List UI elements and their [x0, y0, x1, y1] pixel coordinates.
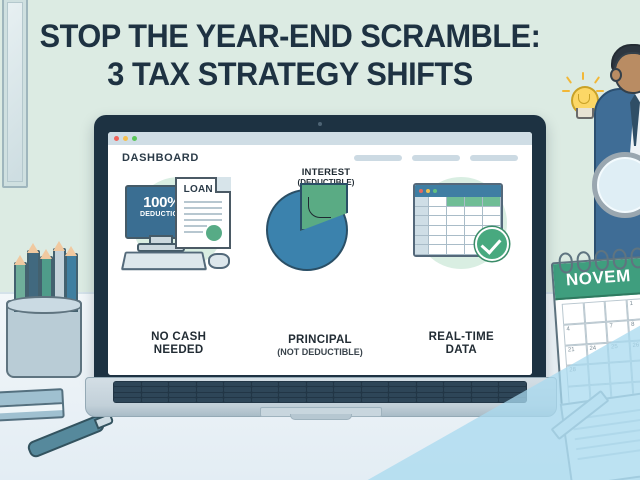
keyboard-key[interactable]	[307, 387, 334, 391]
keyboard-key[interactable]	[417, 387, 444, 391]
panel-row: 100% DEDUCTION LOAN	[108, 171, 532, 375]
page-title: STOP THE YEAR-END SCRAMBLE: 3 TAX STRATE…	[0, 20, 580, 90]
spreadsheet-cell	[429, 207, 447, 217]
spreadsheet-cell	[447, 216, 465, 226]
laptop-notch	[290, 414, 352, 420]
nav-pill-group	[354, 155, 518, 161]
spreadsheet-cell	[447, 207, 465, 217]
panel-label-line2: NEEDED	[151, 344, 206, 357]
traffic-light-red[interactable]	[114, 136, 119, 141]
keyboard-key[interactable]	[169, 393, 196, 397]
keyboard-key[interactable]	[252, 393, 279, 397]
spreadsheet-cell	[447, 226, 465, 236]
spreadsheet-cell	[447, 236, 465, 246]
keyboard-key[interactable]	[142, 398, 169, 402]
keyboard-key[interactable]	[389, 382, 416, 386]
callout-line1: INTEREST	[286, 167, 366, 178]
nav-pill-2[interactable]	[412, 155, 460, 161]
keyboard-key[interactable]	[114, 393, 141, 397]
laptop-lid: DASHBOARD	[94, 115, 546, 387]
document-fold	[215, 177, 231, 193]
spreadsheet-cell	[415, 226, 429, 236]
keyboard-key[interactable]	[472, 393, 499, 397]
webcam-icon	[318, 122, 322, 126]
keyboard-key[interactable]	[197, 387, 224, 391]
spreadsheet-titlebar	[415, 185, 501, 197]
spreadsheet-cell	[415, 207, 429, 217]
keyboard-key[interactable]	[279, 387, 306, 391]
spreadsheet-cell	[447, 245, 465, 255]
spreadsheet-cell	[429, 226, 447, 236]
traffic-light-amber[interactable]	[123, 136, 128, 141]
keyboard-icon	[121, 252, 207, 271]
keyboard-key[interactable]	[307, 382, 334, 386]
keyboard-key[interactable]	[114, 398, 141, 402]
check-circle-icon	[475, 227, 509, 261]
headline-line-1: STOP THE YEAR-END SCRAMBLE:	[12, 20, 569, 52]
keyboard-key[interactable]	[334, 382, 361, 386]
keyboard-key[interactable]	[197, 382, 224, 386]
approval-stamp-icon	[206, 225, 222, 241]
loan-document-title: LOAN	[184, 184, 213, 195]
keyboard-key[interactable]	[417, 393, 444, 397]
pencil-cup	[6, 300, 82, 378]
spreadsheet-cell	[465, 207, 483, 217]
spreadsheet-cell	[415, 197, 429, 207]
calendar-day-cell	[562, 302, 585, 324]
traffic-light-green[interactable]	[132, 136, 137, 141]
keyboard-key[interactable]	[389, 398, 416, 402]
keyboard-key[interactable]	[444, 387, 471, 391]
keyboard-key[interactable]	[114, 382, 141, 386]
spreadsheet-cell	[415, 216, 429, 226]
keyboard-key[interactable]	[307, 398, 334, 402]
panel-label-line1: PRINCIPAL	[277, 334, 363, 347]
keyboard-key[interactable]	[417, 382, 444, 386]
keyboard-key[interactable]	[389, 393, 416, 397]
laptop-screen: DASHBOARD	[108, 132, 532, 375]
keyboard-key[interactable]	[334, 393, 361, 397]
keyboard-key[interactable]	[499, 382, 526, 386]
keyboard-key[interactable]	[444, 398, 471, 402]
keyboard-key[interactable]	[114, 387, 141, 391]
keyboard-key[interactable]	[334, 398, 361, 402]
keyboard-key[interactable]	[362, 387, 389, 391]
keyboard-key[interactable]	[252, 382, 279, 386]
panel-label-line1: NO CASH	[151, 331, 206, 344]
calendar-day-cell	[585, 322, 608, 344]
panel-principal-pie: INTEREST (DEDUCTIBLE) PRINCIPA	[249, 171, 390, 375]
spreadsheet-cell	[483, 207, 501, 217]
nav-pill-3[interactable]	[470, 155, 518, 161]
keyboard-key[interactable]	[362, 382, 389, 386]
panel-label: NO CASH NEEDED	[151, 331, 206, 357]
advisor-person	[600, 28, 640, 258]
spreadsheet-cell	[429, 197, 447, 207]
panel-label: PRINCIPAL (NOT DEDUCTIBLE)	[277, 334, 363, 357]
monitor-loan-art: 100% DEDUCTION LOAN	[115, 175, 243, 273]
keyboard-key[interactable]	[444, 382, 471, 386]
headline-line-2: 3 TAX STRATEGY SHIFTS	[12, 58, 569, 90]
keyboard-key[interactable]	[362, 398, 389, 402]
loan-document-icon: LOAN	[175, 177, 231, 249]
panel-label-line2: DATA	[429, 344, 494, 357]
browser-chrome	[108, 132, 532, 145]
magnifying-glass-icon	[592, 152, 640, 214]
keyboard-key[interactable]	[169, 387, 196, 391]
keyboard-key[interactable]	[307, 393, 334, 397]
spreadsheet-cell	[415, 236, 429, 246]
keyboard-key[interactable]	[279, 382, 306, 386]
keyboard-key[interactable]	[252, 398, 279, 402]
notebook	[0, 388, 65, 422]
pie-chart-art: INTEREST (DEDUCTIBLE)	[256, 175, 384, 273]
panel-real-time-data: REAL-TIME DATA	[391, 171, 532, 375]
keyboard-key[interactable]	[417, 398, 444, 402]
keyboard-key[interactable]	[224, 382, 251, 386]
keyboard-key[interactable]	[389, 387, 416, 391]
keyboard-key[interactable]	[142, 387, 169, 391]
pie-chart	[264, 179, 376, 271]
keyboard-key[interactable]	[279, 398, 306, 402]
spreadsheet-cell	[415, 245, 429, 255]
keyboard-key[interactable]	[197, 393, 224, 397]
nav-pill-1[interactable]	[354, 155, 402, 161]
spreadsheet-cell	[429, 216, 447, 226]
laptop: DASHBOARD	[85, 115, 555, 415]
calendar-day-cell: 4	[563, 323, 586, 345]
calendar-day-cell	[605, 299, 628, 321]
panel-label-sub: (NOT DEDUCTIBLE)	[277, 347, 363, 357]
keyboard-key[interactable]	[279, 393, 306, 397]
spreadsheet-cell	[483, 216, 501, 226]
mouse-icon	[208, 253, 230, 269]
keyboard-key[interactable]	[334, 387, 361, 391]
spreadsheet-cell	[483, 197, 501, 207]
spreadsheet-cell	[429, 236, 447, 246]
spreadsheet-cell	[429, 245, 447, 255]
panel-label-line1: REAL-TIME	[429, 331, 494, 344]
dashboard-title: DASHBOARD	[122, 152, 199, 164]
keyboard-key[interactable]	[472, 387, 499, 391]
spreadsheet-art	[397, 175, 525, 273]
keyboard-key[interactable]	[224, 387, 251, 391]
keyboard-key[interactable]	[224, 393, 251, 397]
illustration-canvas: STOP THE YEAR-END SCRAMBLE: 3 TAX STRATE…	[0, 0, 640, 480]
dashboard-content: DASHBOARD	[108, 145, 532, 375]
keyboard-key[interactable]	[472, 382, 499, 386]
keyboard-key[interactable]	[169, 382, 196, 386]
keyboard-key[interactable]	[499, 387, 526, 391]
laptop-keyboard[interactable]	[113, 381, 527, 403]
keyboard-key[interactable]	[472, 398, 499, 402]
spreadsheet-cell	[465, 216, 483, 226]
keyboard-key[interactable]	[169, 398, 196, 402]
keyboard-key[interactable]	[197, 398, 224, 402]
calendar-day-cell	[583, 301, 606, 323]
panel-no-cash-needed: 100% DEDUCTION LOAN	[108, 171, 249, 375]
keyboard-key[interactable]	[142, 382, 169, 386]
keyboard-key[interactable]	[362, 393, 389, 397]
callout-leader-line	[308, 197, 331, 218]
keyboard-key[interactable]	[252, 387, 279, 391]
keyboard-key[interactable]	[444, 393, 471, 397]
keyboard-key[interactable]	[142, 393, 169, 397]
calendar-day-cell: 1	[626, 298, 640, 320]
spreadsheet-cell	[465, 197, 483, 207]
keyboard-key[interactable]	[224, 398, 251, 402]
panel-label: REAL-TIME DATA	[429, 331, 494, 357]
spreadsheet-cell	[447, 197, 465, 207]
